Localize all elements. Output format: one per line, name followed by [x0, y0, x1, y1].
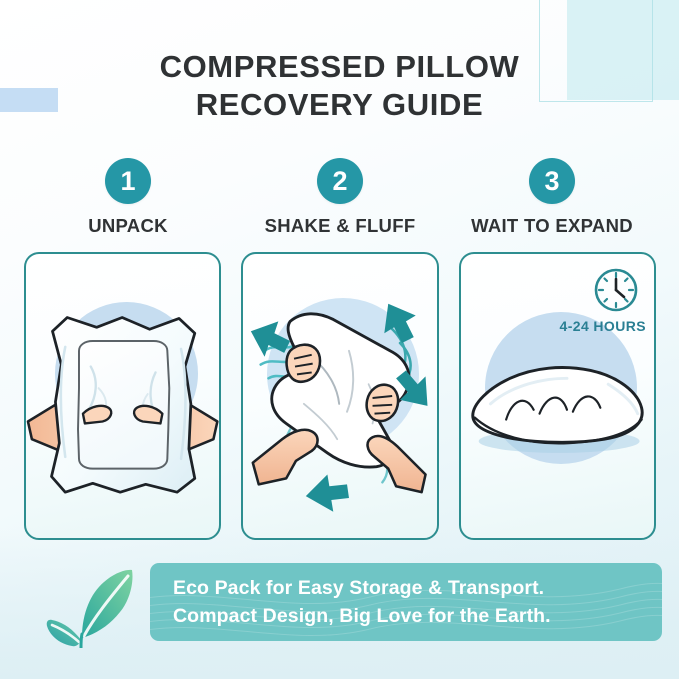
page-title: COMPRESSED PILLOW RECOVERY GUIDE — [0, 48, 679, 124]
expanded-pillow-icon — [461, 254, 654, 538]
step-header-3: 3 WAIT TO EXPAND — [446, 158, 658, 240]
shaking-pillow-icon — [243, 254, 436, 538]
step-header-2: 2 SHAKE & FLUFF — [234, 158, 446, 240]
step-illustration-row: 4-24 HOURS — [24, 252, 656, 540]
step-number-badge-2: 2 — [317, 158, 363, 204]
step-card-1 — [24, 252, 221, 540]
eco-banner: Eco Pack for Easy Storage & Transport. C… — [150, 563, 662, 641]
page-title-line1: COMPRESSED PILLOW — [160, 49, 520, 84]
pillow-package-icon — [26, 254, 219, 538]
step-number-badge-1: 1 — [105, 158, 151, 204]
step-card-3: 4-24 HOURS — [459, 252, 656, 540]
banner-line-1: Eco Pack for Easy Storage & Transport. — [173, 574, 662, 602]
step-label-1: UNPACK — [88, 215, 168, 237]
step-number-badge-3: 3 — [529, 158, 575, 204]
leaf-sprout-icon — [42, 552, 138, 648]
infographic-page: COMPRESSED PILLOW RECOVERY GUIDE 1 UNPAC… — [0, 0, 679, 679]
step-label-3: WAIT TO EXPAND — [471, 215, 633, 237]
banner-line-2: Compact Design, Big Love for the Earth. — [173, 602, 662, 630]
step-label-2: SHAKE & FLUFF — [265, 215, 416, 237]
page-title-line2: RECOVERY GUIDE — [0, 86, 679, 124]
step-header-row: 1 UNPACK 2 SHAKE & FLUFF 3 WAIT TO EXPAN… — [22, 158, 658, 240]
step-header-1: 1 UNPACK — [22, 158, 234, 240]
step-card-2 — [241, 252, 438, 540]
